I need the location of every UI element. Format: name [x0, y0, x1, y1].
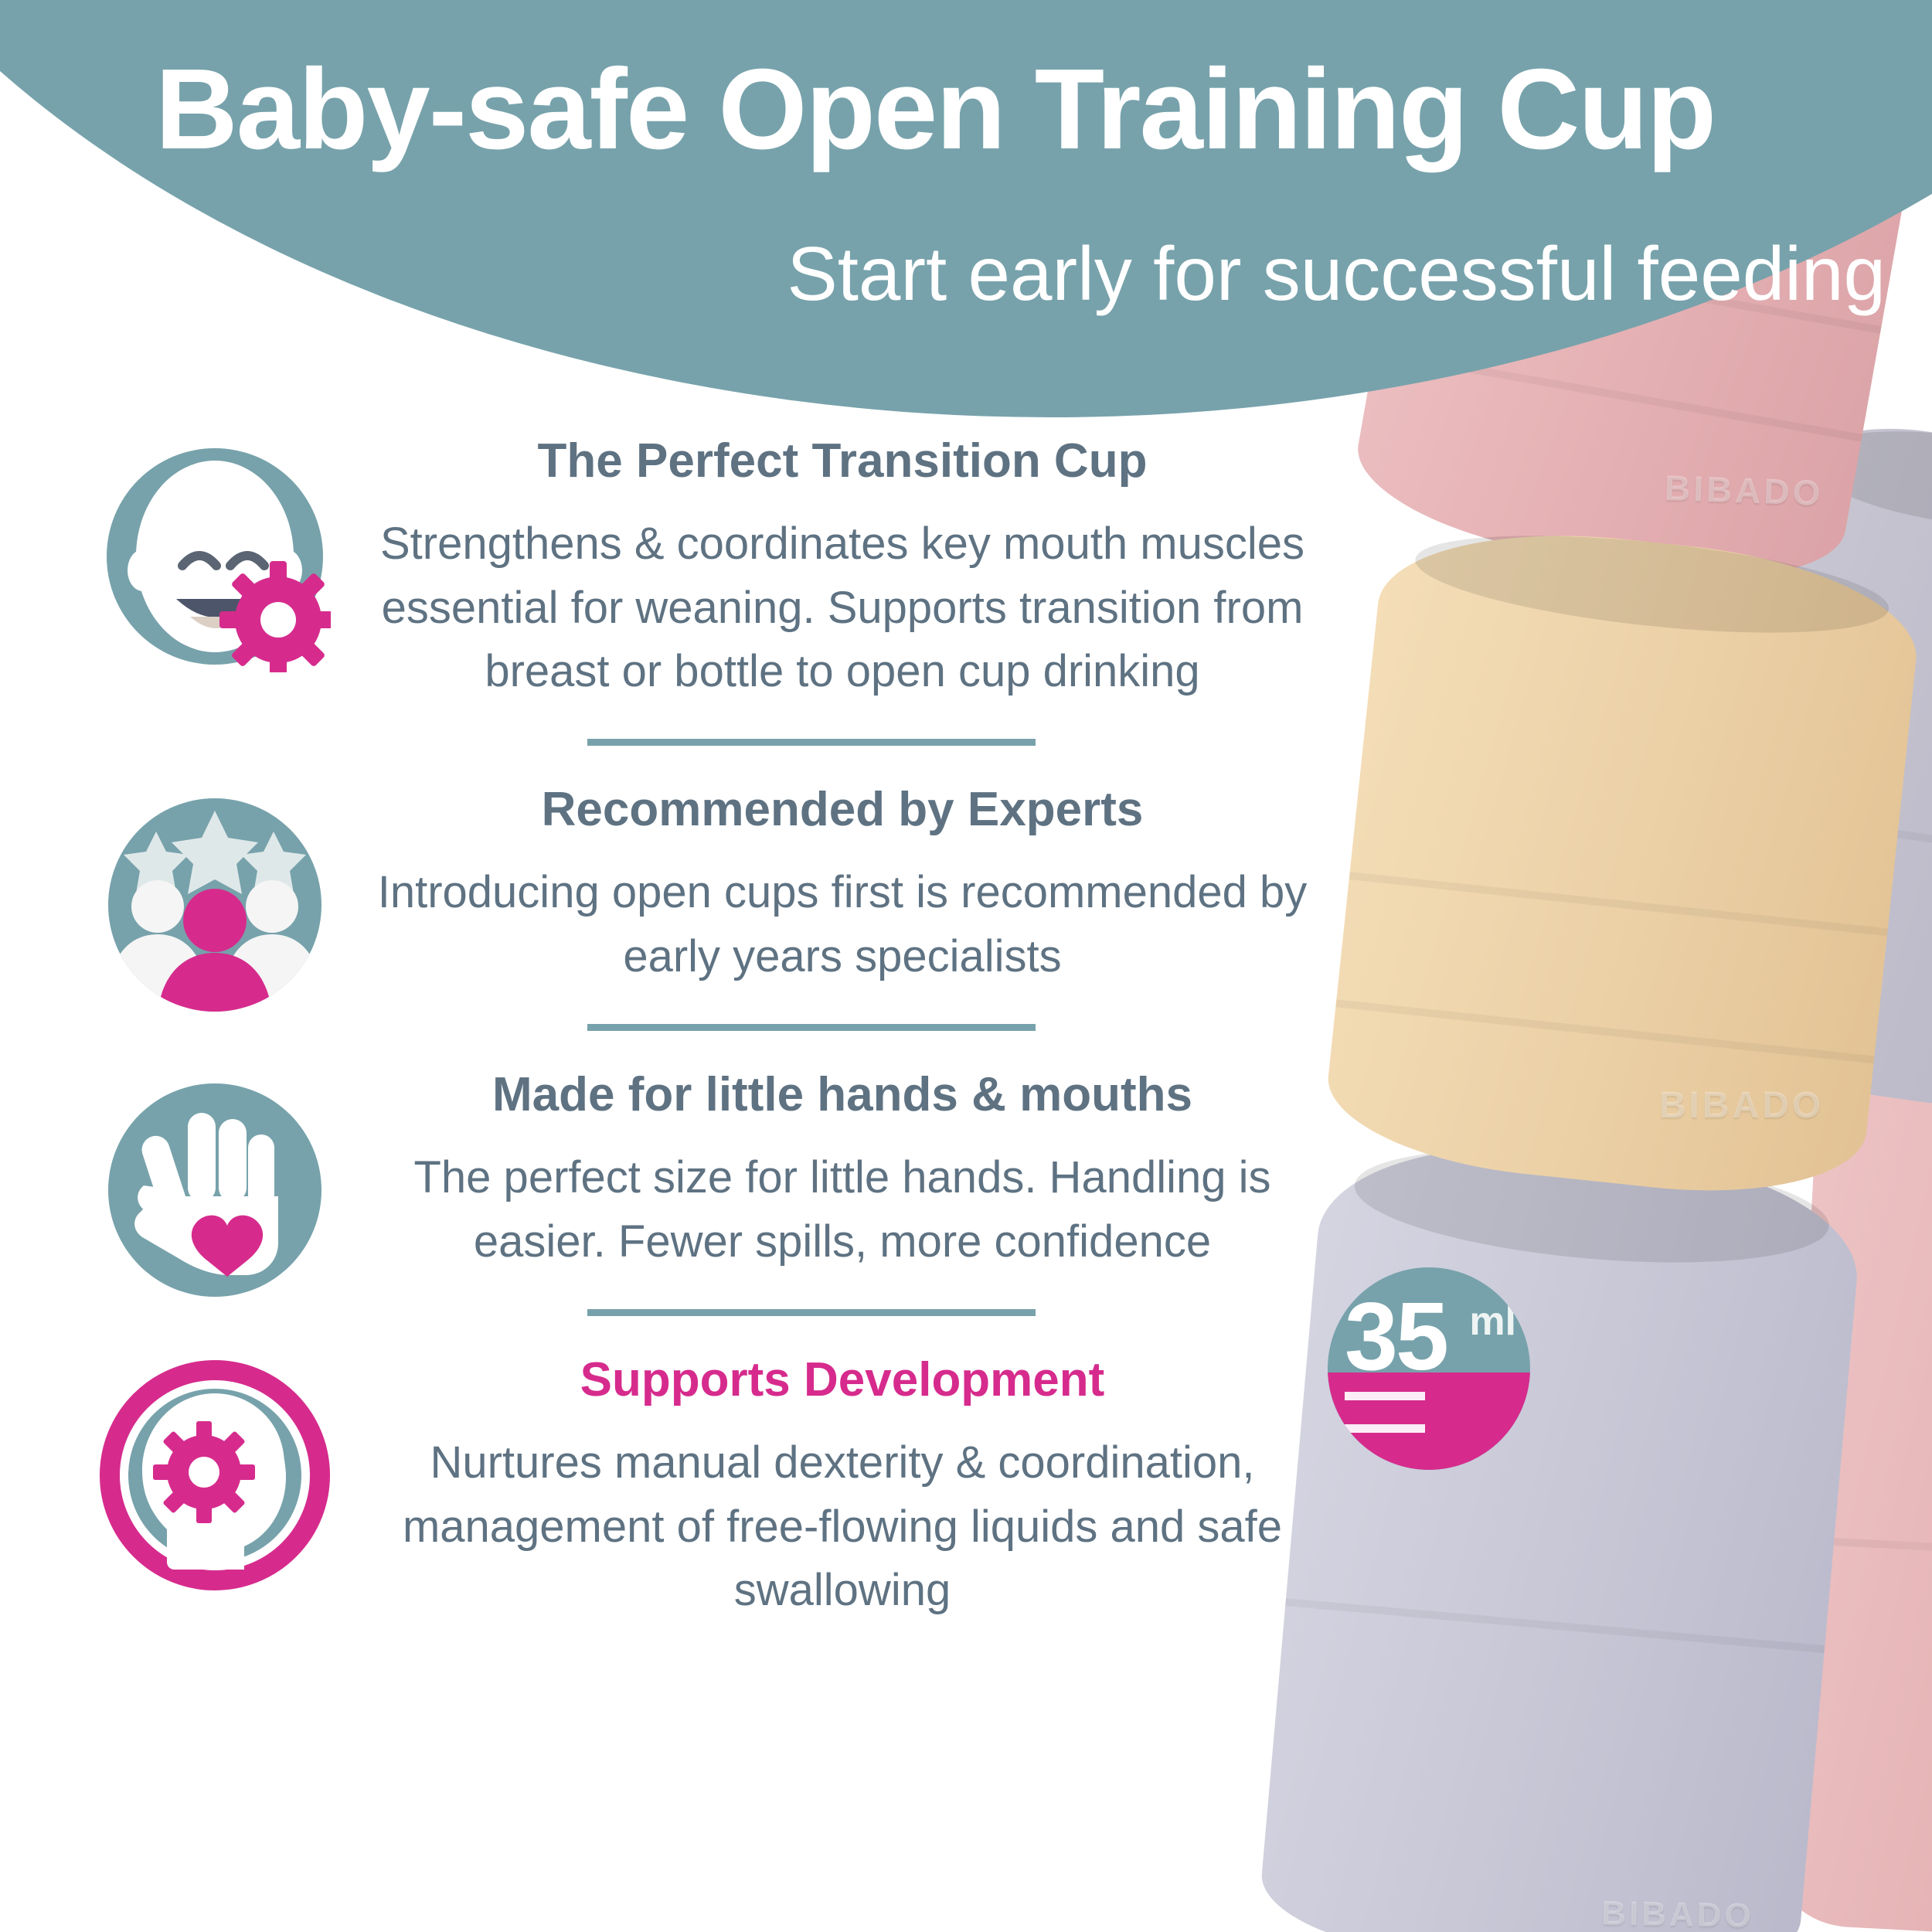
section-divider	[587, 1309, 1036, 1316]
feature-body: Strengthens & coordinates key mouth musc…	[371, 512, 1314, 703]
cup-ridge	[1335, 999, 1874, 1063]
cup-ridge	[1349, 872, 1888, 936]
cup-beige-middle: BIBADO	[1321, 515, 1926, 1209]
capacity-value: 35	[1345, 1289, 1447, 1385]
feature-title: The Perfect Transition Cup	[371, 433, 1314, 489]
capacity-unit: ml	[1469, 1301, 1516, 1342]
feature-title: Made for little hands & mouths	[371, 1066, 1314, 1123]
section-divider	[587, 1024, 1036, 1031]
cup-lavender-bottom: BIBADO	[1257, 1129, 1866, 1932]
measure-line	[1345, 1392, 1425, 1400]
feature-title: Supports Development	[371, 1352, 1314, 1408]
measure-line	[1345, 1424, 1425, 1433]
page-title: Baby-safe Open Training Cup	[0, 53, 1870, 167]
feature-text-block: Recommended by Experts Introducing open …	[371, 781, 1314, 988]
feature-text-block: Supports Development Nurtures manual dex…	[371, 1352, 1314, 1622]
cup-ridge	[1285, 1598, 1825, 1653]
capacity-badge: 35 ml	[1328, 1267, 1530, 1470]
cup-brand-emboss: BIBADO	[1659, 1084, 1824, 1127]
feature-item-little-hands: Made for little hands & mouths The perfe…	[0, 1066, 1314, 1274]
cup-brand-emboss: BIBADO	[1601, 1894, 1754, 1932]
feature-body: Introducing open cups first is recommend…	[371, 861, 1314, 988]
baby-face-gear-icon	[99, 440, 331, 672]
hand-heart-icon	[99, 1074, 331, 1306]
feature-item-recommended-experts: Recommended by Experts Introducing open …	[0, 781, 1314, 988]
feature-body: Nurtures manual dexterity & coordination…	[371, 1431, 1314, 1622]
head-gear-brain-icon	[99, 1359, 331, 1591]
feature-body: The perfect size for little hands. Handl…	[371, 1146, 1314, 1274]
page-subtitle: Start early for successful feeding	[0, 236, 1886, 311]
feature-item-transition-cup: The Perfect Transition Cup Strengthens &…	[0, 433, 1314, 703]
feature-list: The Perfect Transition Cup Strengthens &…	[0, 433, 1314, 1622]
feature-text-block: Made for little hands & mouths The perfe…	[371, 1066, 1314, 1274]
feature-title: Recommended by Experts	[371, 781, 1314, 838]
feature-text-block: The Perfect Transition Cup Strengthens &…	[371, 433, 1314, 703]
cup-brand-emboss: BIBADO	[1664, 467, 1824, 514]
feature-item-supports-development: Supports Development Nurtures manual dex…	[0, 1352, 1314, 1622]
experts-stars-people-icon	[99, 789, 331, 1021]
section-divider	[587, 739, 1036, 746]
